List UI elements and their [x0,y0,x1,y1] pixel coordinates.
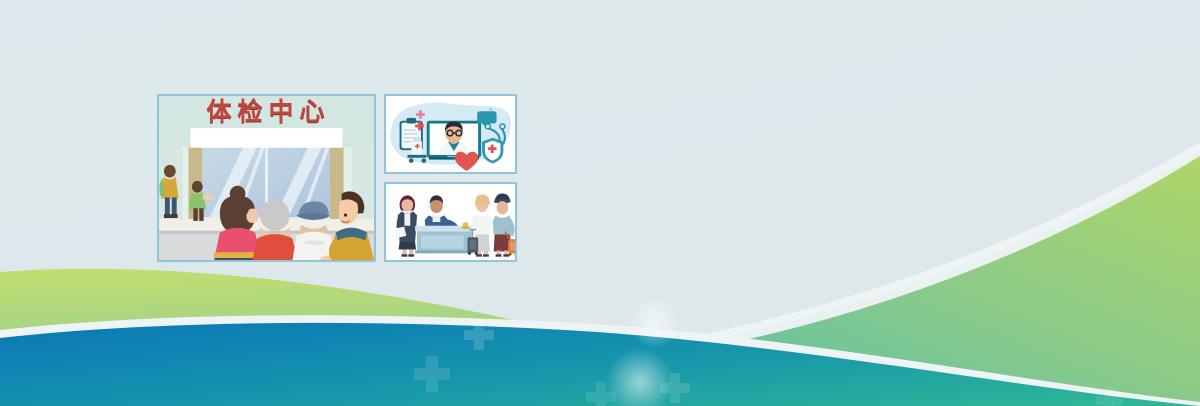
image-card-group: 体检中心 [157,94,517,262]
reception-desk-card[interactable] [384,182,517,262]
telemedicine-card[interactable] [384,94,517,174]
health-checkup-center-card[interactable]: 体检中心 [157,94,376,262]
glow-spot [629,296,681,348]
banner-stage: 体检中心 [0,0,1200,406]
reception-desk [415,222,473,253]
